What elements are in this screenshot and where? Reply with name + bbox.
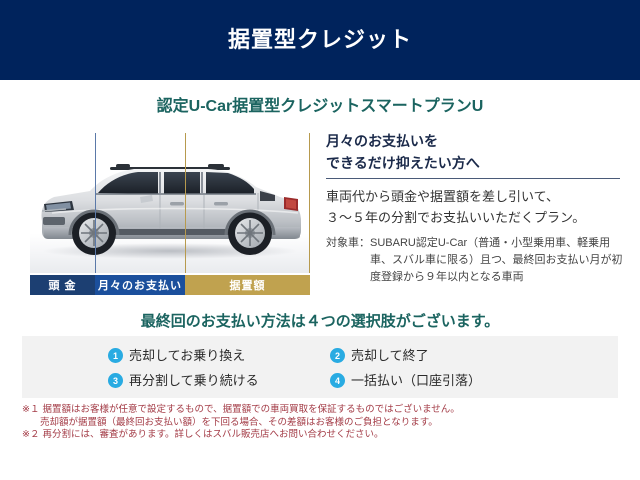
footnote-1-line-1: 据置額はお客様が任意で設定するもので、据置額での車両買取を保証するものではござい… bbox=[42, 404, 459, 417]
footnote-2-line-1: 再分割には、審査があります。詳しくはスバル販売店へお問い合わせください。 bbox=[42, 429, 383, 442]
eligible-vehicle-label: 対象車： bbox=[326, 235, 370, 286]
car-side-profile-icon bbox=[32, 147, 308, 265]
segment-residual-value: 据置額 bbox=[185, 275, 310, 295]
final-payment-heading: 最終回のお支払い方法は４つの選択肢がございます。 bbox=[0, 310, 640, 331]
plan-body-line-2: ３〜５年の分割でお支払いいただくプラン。 bbox=[326, 207, 626, 228]
eligible-vehicle-text: SUBARU認定U-Car（普通・小型乗用車、軽乗用車、スバル車に限る）且つ、最… bbox=[370, 235, 626, 286]
final-payment-options-grid: 1 売却してお乗り換え 2 売却して終了 3 再分割して乗り続ける 4 一括払い… bbox=[108, 344, 608, 392]
segment-down-payment: 頭 金 bbox=[30, 275, 95, 295]
option-label-1: 売却してお乗り換え bbox=[129, 349, 245, 362]
option-label-4: 一括払い（口座引落） bbox=[351, 374, 481, 387]
page-title: 据置型クレジット bbox=[228, 29, 412, 51]
segment-divider-1 bbox=[95, 133, 96, 273]
option-item-2[interactable]: 2 売却して終了 bbox=[330, 344, 552, 367]
plan-headline-line-1: 月々のお支払いを bbox=[326, 130, 626, 152]
footnote-1: ※１ 据置額はお客様が任意で設定するもので、据置額での車両買取を保証するものでは… bbox=[22, 404, 622, 417]
footnotes: ※１ 据置額はお客様が任意で設定するもので、据置額での車両買取を保証するものでは… bbox=[22, 404, 622, 442]
option-item-4[interactable]: 4 一括払い（口座引落） bbox=[330, 369, 552, 392]
option-number-badge-4: 4 bbox=[330, 373, 345, 388]
segment-monthly-payment: 月々のお支払い bbox=[95, 275, 185, 295]
option-number-badge-1: 1 bbox=[108, 348, 123, 363]
eligible-vehicle-note: 対象車： SUBARU認定U-Car（普通・小型乗用車、軽乗用車、スバル車に限る… bbox=[326, 235, 626, 286]
plan-description: 月々のお支払いを できるだけ抑えたい方へ 車両代から頭金や据置額を差し引いて、 … bbox=[326, 130, 626, 286]
segment-divider-3 bbox=[309, 133, 310, 273]
option-number-badge-2: 2 bbox=[330, 348, 345, 363]
segment-divider-2 bbox=[185, 133, 186, 273]
plan-headline: 月々のお支払いを できるだけ抑えたい方へ bbox=[326, 130, 626, 174]
credit-plan-infographic: 据置型クレジット 認定U-Car据置型クレジットスマートプランU bbox=[0, 0, 640, 480]
payment-breakdown-diagram: 頭 金 月々のお支払い 据置額 bbox=[30, 133, 310, 295]
option-label-3: 再分割して乗り続ける bbox=[129, 374, 259, 387]
option-item-3[interactable]: 3 再分割して乗り続ける bbox=[108, 369, 330, 392]
footnote-2-mark: ※２ bbox=[22, 429, 39, 442]
final-payment-options-box: 1 売却してお乗り換え 2 売却して終了 3 再分割して乗り続ける 4 一括払い… bbox=[22, 336, 618, 398]
option-number-badge-3: 3 bbox=[108, 373, 123, 388]
vehicle-illustration bbox=[30, 133, 310, 273]
plan-body-text: 車両代から頭金や据置額を差し引いて、 ３〜５年の分割でお支払いいただくプラン。 bbox=[326, 186, 626, 228]
payment-segment-bar: 頭 金 月々のお支払い 据置額 bbox=[30, 275, 310, 295]
headline-divider bbox=[326, 178, 620, 179]
plan-body-line-1: 車両代から頭金や据置額を差し引いて、 bbox=[326, 186, 626, 207]
footnote-2: ※２ 再分割には、審査があります。詳しくはスバル販売店へお問い合わせください。 bbox=[22, 429, 622, 442]
option-item-1[interactable]: 1 売却してお乗り換え bbox=[108, 344, 330, 367]
footnote-1-mark: ※１ bbox=[22, 404, 39, 417]
plan-subtitle: 認定U-Car据置型クレジットスマートプランU bbox=[0, 92, 640, 116]
plan-headline-line-2: できるだけ抑えたい方へ bbox=[326, 152, 626, 174]
option-label-2: 売却して終了 bbox=[351, 349, 429, 362]
footnote-1-line-2: 売却額が据置額（最終回お支払い額）を下回る場合、その差額はお客様のご負担となりま… bbox=[22, 417, 622, 430]
header-banner: 据置型クレジット bbox=[0, 0, 640, 80]
